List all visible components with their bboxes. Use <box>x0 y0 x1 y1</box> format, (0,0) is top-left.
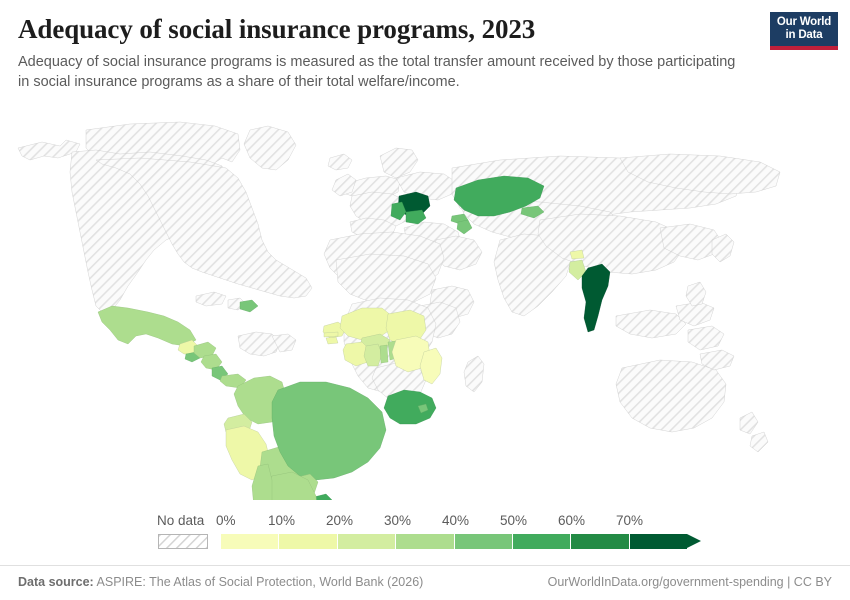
legend-bin-6[interactable] <box>571 534 629 549</box>
legend-bin-3[interactable] <box>396 534 454 549</box>
country-south-africa <box>384 390 436 424</box>
legend-tick-10: 10% <box>268 513 295 528</box>
legend-bin-4[interactable] <box>455 534 513 549</box>
legend-tick-30: 30% <box>384 513 411 528</box>
our-world-in-data-logo[interactable]: Our World in Data <box>770 12 838 50</box>
chart-header: Adequacy of social insurance programs, 2… <box>18 12 758 92</box>
country-brazil <box>272 382 386 480</box>
legend-bin-5[interactable] <box>513 534 571 549</box>
legend-open-ended-arrow <box>687 534 701 548</box>
country-gambia <box>324 332 338 337</box>
country-guinea-bissau <box>326 337 338 344</box>
logo-line-1: Our World <box>777 16 831 29</box>
legend-tick-60: 60% <box>558 513 585 528</box>
chart-subtitle: Adequacy of social insurance programs is… <box>18 52 748 92</box>
attribution-link[interactable]: OurWorldInData.org/government-spending |… <box>548 575 832 589</box>
data-source-line: Data source: ASPIRE: The Atlas of Social… <box>18 575 423 589</box>
country-bulgaria <box>406 210 426 224</box>
legend-no-data-swatch[interactable] <box>158 534 208 549</box>
country-thailand <box>582 264 610 332</box>
data-source-prefix: Data source: <box>18 575 94 589</box>
legend-bin-7[interactable] <box>630 534 687 549</box>
country-dominican-republic <box>240 300 258 312</box>
data-source-text: ASPIRE: The Atlas of Social Protection, … <box>97 575 424 589</box>
legend-no-data-label: No data <box>157 513 204 528</box>
country-mexico <box>98 306 196 346</box>
page-title: Adequacy of social insurance programs, 2… <box>18 12 758 46</box>
country-armenia <box>457 220 472 234</box>
legend-tick-70: 70% <box>616 513 643 528</box>
legend-tick-20: 20% <box>326 513 353 528</box>
no-data-hatch-swatch <box>159 535 207 548</box>
legend-bin-0[interactable] <box>221 534 279 549</box>
legend-bin-1[interactable] <box>279 534 337 549</box>
map-svg[interactable] <box>0 100 850 500</box>
legend-tick-0: 0% <box>216 513 236 528</box>
legend-tick-40: 40% <box>442 513 469 528</box>
chart-footer: Data source: ASPIRE: The Atlas of Social… <box>0 565 850 600</box>
legend-color-scale[interactable] <box>221 534 687 549</box>
country-togo <box>380 345 388 363</box>
legend-bin-2[interactable] <box>338 534 396 549</box>
map-legend: No data 0% 10% 20% 30% 40% 50% 60 <box>0 505 850 555</box>
logo-line-2: in Data <box>786 29 823 42</box>
world-choropleth-map[interactable] <box>0 100 850 500</box>
legend-tick-50: 50% <box>500 513 527 528</box>
